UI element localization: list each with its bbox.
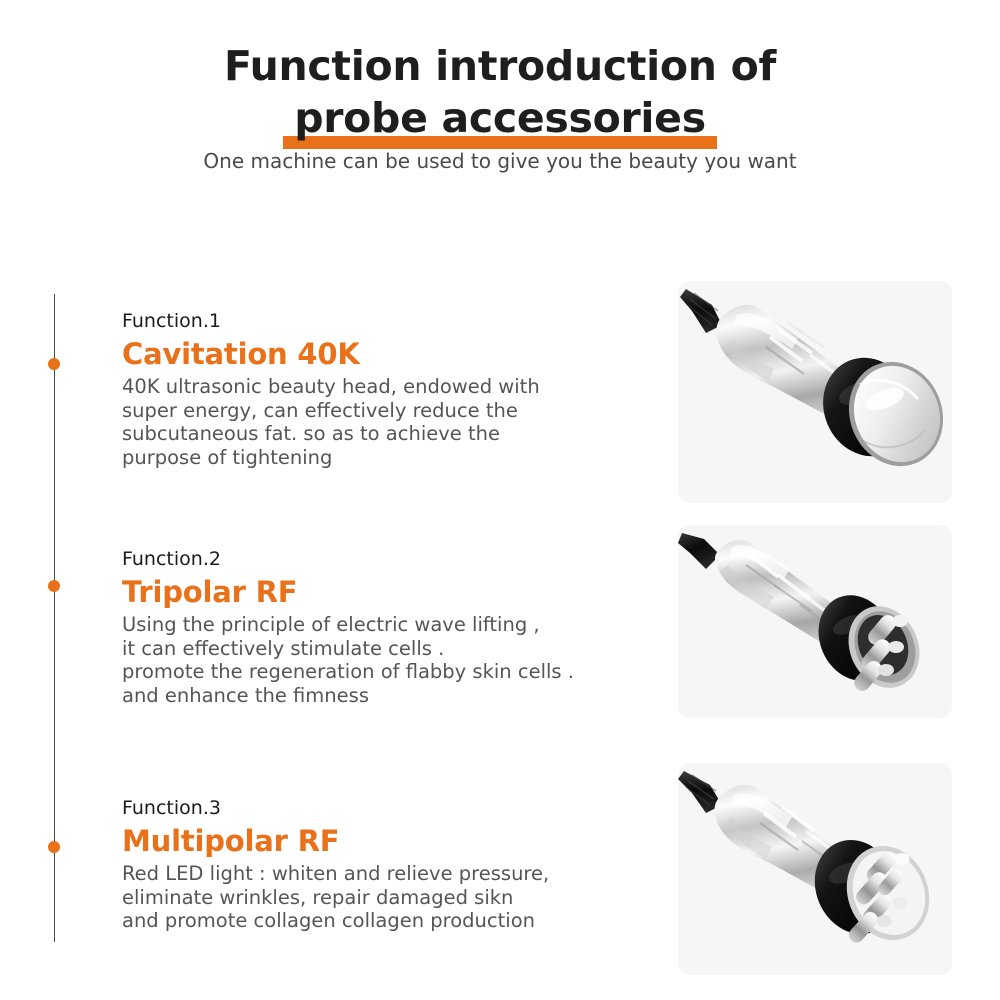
function-block-2: Function.2 Tripolar RF Using the princip… xyxy=(122,546,662,707)
infographic-page: Function introduction of probe accessori… xyxy=(0,0,1000,1000)
function-title-2: Tripolar RF xyxy=(122,574,662,611)
product-image-card-1: cavitation-40k-probe xyxy=(678,281,952,503)
function-label-3: Function.3 xyxy=(122,795,662,822)
page-subtitle: One machine can be used to give you the … xyxy=(0,148,1000,174)
timeline-dot-2 xyxy=(48,580,60,592)
page-title: Function introduction of probe accessori… xyxy=(0,40,1000,144)
function-title-1: Cavitation 40K xyxy=(122,336,662,373)
function-description-2: Using the principle of electric wave lif… xyxy=(122,613,662,707)
tripolar-rf-probe-icon xyxy=(678,525,952,718)
function-block-1: Function.1 Cavitation 40K 40K ultrasonic… xyxy=(122,308,662,469)
header: Function introduction of probe accessori… xyxy=(0,40,1000,144)
cavitation-40k-probe-icon xyxy=(678,281,952,503)
function-block-3: Function.3 Multipolar RF Red LED light :… xyxy=(122,795,662,933)
timeline-dot-1 xyxy=(48,358,60,370)
timeline-dot-3 xyxy=(48,841,60,853)
function-label-1: Function.1 xyxy=(122,308,662,335)
function-label-2: Function.2 xyxy=(122,546,662,573)
function-description-3: Red LED light : whiten and relieve press… xyxy=(122,862,662,933)
function-title-3: Multipolar RF xyxy=(122,823,662,860)
function-description-1: 40K ultrasonic beauty head, endowed with… xyxy=(122,375,662,469)
multipolar-rf-probe-icon xyxy=(678,763,952,975)
title-line-2: probe accessories xyxy=(0,92,1000,144)
product-image-card-3: multipolar-rf-probe xyxy=(678,763,952,975)
title-line-1: Function introduction of xyxy=(0,40,1000,92)
product-image-card-2: tripolar-rf-probe xyxy=(678,525,952,718)
